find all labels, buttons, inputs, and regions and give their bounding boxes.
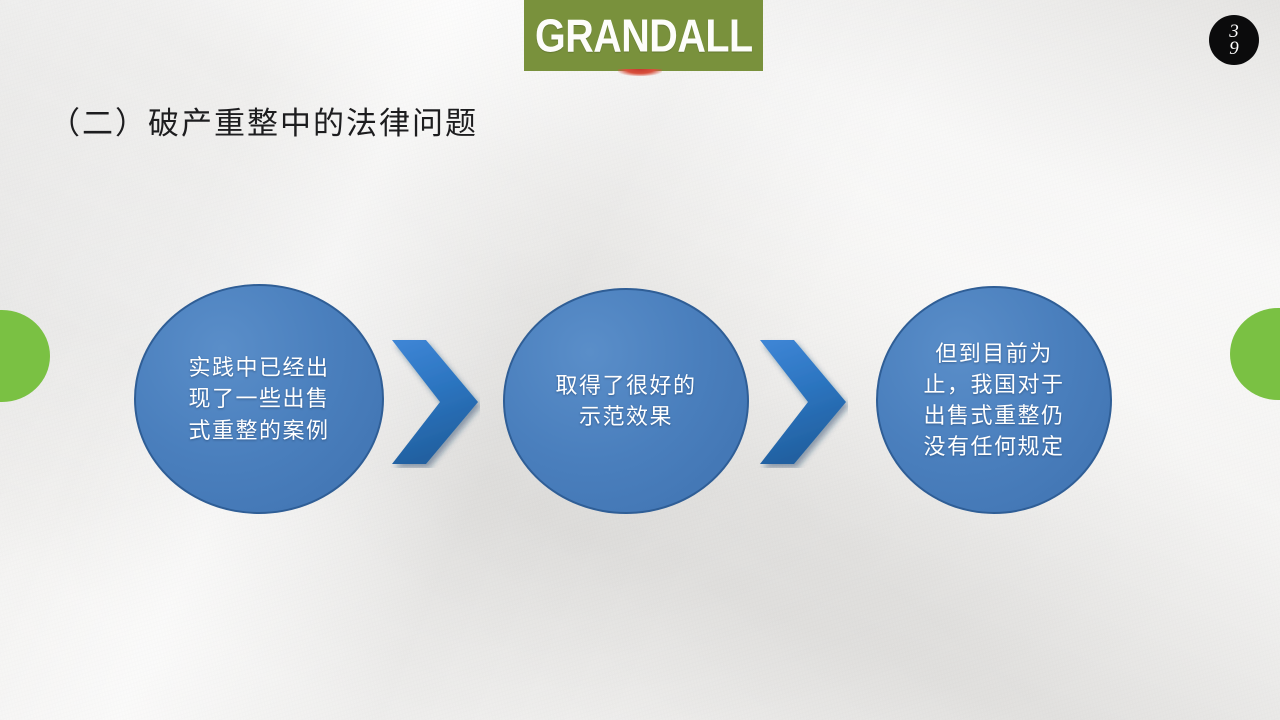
decorative-green-circle-left bbox=[0, 310, 50, 402]
flow-node-2-label: 取得了很好的示范效果 bbox=[550, 370, 702, 432]
flow-node-1-label: 实践中已经出现了一些出售式重整的案例 bbox=[184, 352, 334, 446]
flow-node-2[interactable]: 取得了很好的示范效果 bbox=[503, 288, 749, 514]
chevron-right-icon-2 bbox=[758, 336, 848, 468]
flow-node-3-label: 但到目前为止，我国对于出售式重整仍没有任何规定 bbox=[918, 338, 1070, 463]
chevron-right-icon-1 bbox=[390, 336, 480, 468]
page-number-badge: 3 9 bbox=[1209, 15, 1259, 65]
logo-text: GRANDALL bbox=[535, 12, 753, 58]
slide-canvas: GRANDALL 3 9 （二）破产重整中的法律问题 实践中已经出现了一些出售式… bbox=[0, 0, 1280, 720]
grandall-logo-banner: GRANDALL bbox=[524, 0, 763, 71]
flow-node-3[interactable]: 但到目前为止，我国对于出售式重整仍没有任何规定 bbox=[876, 286, 1112, 514]
flow-node-1[interactable]: 实践中已经出现了一些出售式重整的案例 bbox=[134, 284, 384, 514]
page-number-bottom: 9 bbox=[1229, 40, 1239, 57]
slide-title: （二）破产重整中的法律问题 bbox=[49, 98, 478, 143]
decorative-green-circle-right bbox=[1230, 308, 1280, 400]
